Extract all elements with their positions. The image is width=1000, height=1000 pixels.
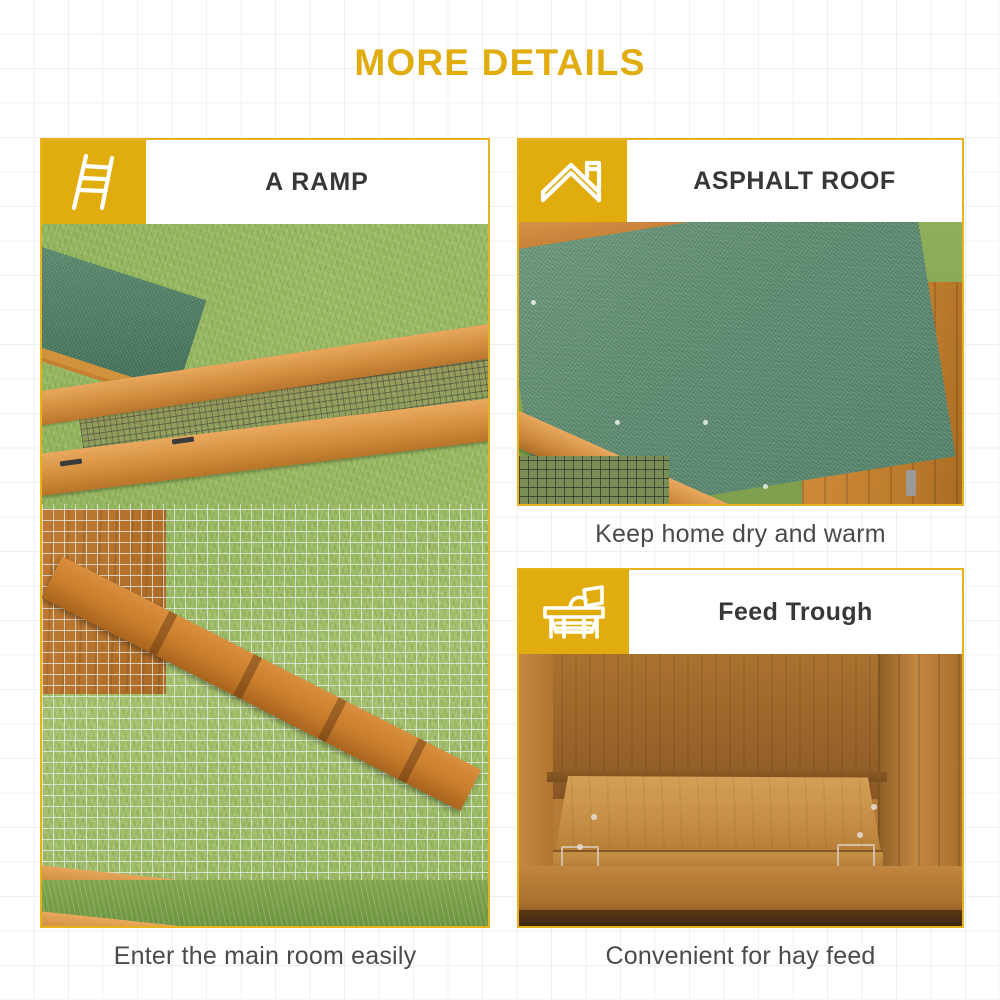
hinge	[906, 470, 916, 496]
trough-front-panel	[555, 776, 881, 852]
detail-panel-ramp: A RAMP	[40, 138, 490, 928]
ramp-cleat	[398, 738, 427, 783]
panel-roof-header: ASPHALT ROOF	[519, 140, 962, 222]
infographic-page: MORE DETAILS	[0, 0, 1000, 1000]
panel-trough-title: Feed Trough	[629, 570, 962, 654]
panel-trough-photo	[519, 654, 962, 928]
ramp-cleat	[148, 611, 177, 656]
panel-ramp-photo	[42, 224, 488, 928]
panel-roof-photo	[519, 222, 962, 506]
panel-ramp-header: A RAMP	[42, 140, 488, 224]
roof-icon	[519, 140, 627, 222]
screw	[857, 832, 863, 838]
panel-trough-header: Feed Trough	[519, 570, 962, 654]
panel-trough-caption: Convenient for hay feed	[517, 942, 964, 971]
screw	[871, 804, 877, 810]
ramp-cleat	[233, 654, 262, 699]
panel-ramp-title: A RAMP	[146, 140, 488, 224]
run-wire-mesh	[42, 504, 488, 928]
run-wire-mesh	[519, 456, 669, 506]
panel-roof-title: ASPHALT ROOF	[627, 140, 962, 222]
ramp-cleat	[318, 697, 347, 742]
detail-panel-trough: Feed Trough	[517, 568, 964, 928]
hutch-floor	[519, 866, 962, 928]
ladder-icon	[42, 140, 146, 224]
screw	[763, 484, 768, 489]
screw	[615, 420, 620, 425]
page-title: MORE DETAILS	[0, 42, 1000, 84]
panel-ramp-caption: Enter the main room easily	[40, 942, 490, 971]
screw	[531, 300, 536, 305]
screw	[703, 420, 708, 425]
detail-panel-roof: ASPHALT ROOF	[517, 138, 964, 506]
feed-trough-icon	[519, 570, 629, 654]
screw	[577, 844, 583, 850]
screw	[591, 814, 597, 820]
panel-roof-caption: Keep home dry and warm	[517, 520, 964, 549]
